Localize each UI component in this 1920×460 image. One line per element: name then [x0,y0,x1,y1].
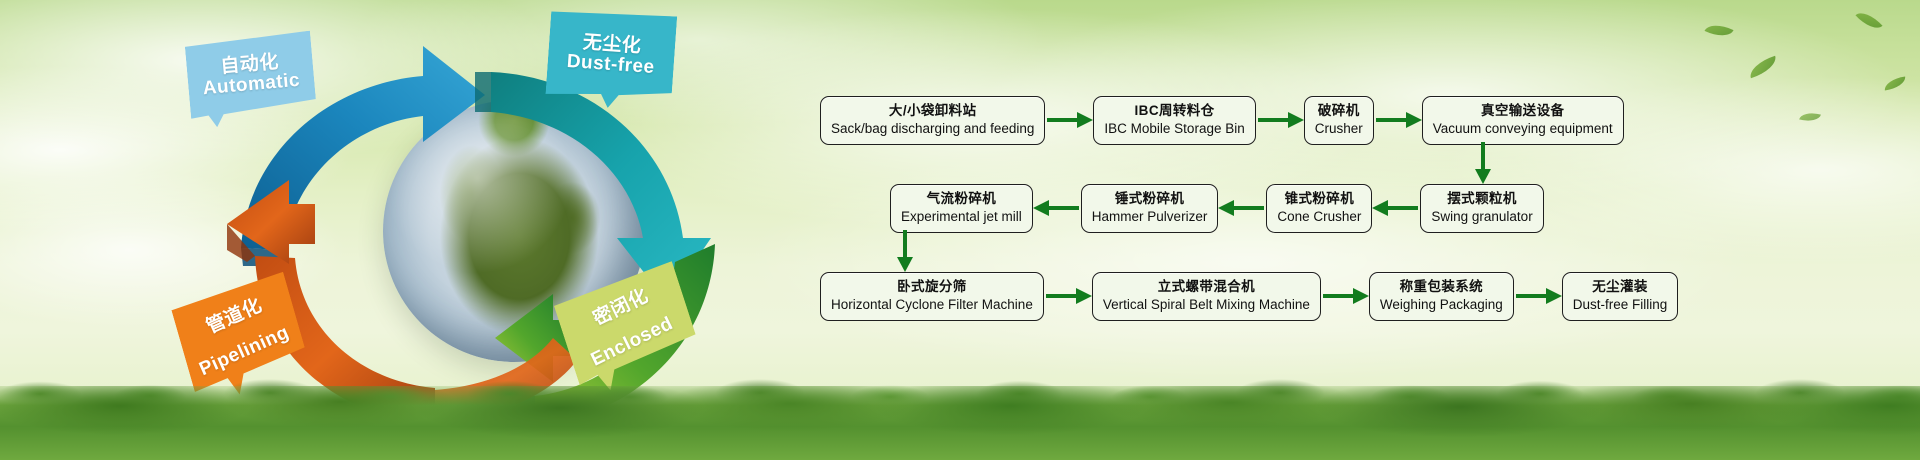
arrow-right-icon [1045,109,1093,131]
tag-label-en: Automatic [202,70,301,99]
node-label-en: Weighing Packaging [1380,296,1503,314]
cycle-tag-dust-free: 无尘化 Dust-free [545,8,677,113]
arrow-right-icon [1321,285,1369,307]
node-label-cn: 锥式粉碎机 [1277,190,1361,208]
node-label-en: Sack/bag discharging and feeding [831,120,1034,138]
flow-node-experimental-jet-mill[interactable]: 气流粉碎机 Experimental jet mill [890,184,1033,233]
arrow-left-icon [1033,197,1081,219]
flow-node-swing-granulator[interactable]: 摆式颗粒机 Swing granulator [1420,184,1543,233]
node-label-en: Vertical Spiral Belt Mixing Machine [1103,296,1310,314]
node-label-en: IBC Mobile Storage Bin [1104,120,1244,138]
flow-node-ibc-mobile-storage-bin[interactable]: IBC周转料仓 IBC Mobile Storage Bin [1093,96,1255,145]
flow-row-2: 气流粉碎机 Experimental jet mill 锤式粉碎机 Hammer… [890,184,1544,233]
flow-node-cone-crusher[interactable]: 锥式粉碎机 Cone Crusher [1266,184,1372,233]
arrow-right-icon [1256,109,1304,131]
node-label-cn: 称重包装系统 [1380,278,1503,296]
arrow-right-icon [1514,285,1562,307]
eco-cycle-graphic: 自动化 Automatic 无尘化 Dust-free 管道化 Pipelini… [155,38,815,428]
flow-node-vertical-spiral-belt-mixing-machine[interactable]: 立式螺带混合机 Vertical Spiral Belt Mixing Mach… [1092,272,1321,321]
node-label-en: Crusher [1315,120,1363,138]
node-label-cn: 真空输送设备 [1433,102,1613,120]
arrow-right-icon [1374,109,1422,131]
cycle-tag-automatic: 自动化 Automatic [184,31,317,130]
node-label-en: Horizontal Cyclone Filter Machine [831,296,1033,314]
flow-node-dust-free-filling[interactable]: 无尘灌装 Dust-free Filling [1562,272,1679,321]
arrow-left-icon [1372,197,1420,219]
node-label-cn: 锤式粉碎机 [1092,190,1208,208]
flow-row-1: 大/小袋卸料站 Sack/bag discharging and feeding… [820,96,1624,145]
flow-row-3: 卧式旋分筛 Horizontal Cyclone Filter Machine … [820,272,1678,321]
grass-foreground [0,386,1920,460]
arrow-right-icon [1044,285,1092,307]
node-label-cn: IBC周转料仓 [1104,102,1244,120]
node-label-cn: 大/小袋卸料站 [831,102,1034,120]
node-label-cn: 无尘灌装 [1573,278,1668,296]
node-label-en: Vacuum conveying equipment [1433,120,1613,138]
node-label-cn: 卧式旋分筛 [831,278,1033,296]
flow-node-vacuum-conveying-equipment[interactable]: 真空输送设备 Vacuum conveying equipment [1422,96,1624,145]
banner-canvas: 自动化 Automatic 无尘化 Dust-free 管道化 Pipelini… [0,0,1920,460]
flow-node-hammer-pulverizer[interactable]: 锤式粉碎机 Hammer Pulverizer [1081,184,1219,233]
process-flowchart: 大/小袋卸料站 Sack/bag discharging and feeding… [820,96,1910,386]
node-label-en: Swing granulator [1431,208,1532,226]
arrow-down-icon-row1-to-row2 [1472,142,1494,184]
node-label-en: Cone Crusher [1277,208,1361,226]
arrow-down-icon-row2-to-row3 [894,230,916,272]
node-label-en: Experimental jet mill [901,208,1022,226]
node-label-cn: 破碎机 [1315,102,1363,120]
node-label-cn: 气流粉碎机 [901,190,1022,208]
flow-node-sack-bag-discharging[interactable]: 大/小袋卸料站 Sack/bag discharging and feeding [820,96,1045,145]
arrow-left-icon [1218,197,1266,219]
node-label-en: Hammer Pulverizer [1092,208,1208,226]
flow-node-horizontal-cyclone-filter-machine[interactable]: 卧式旋分筛 Horizontal Cyclone Filter Machine [820,272,1044,321]
node-label-en: Dust-free Filling [1573,296,1668,314]
flow-node-crusher[interactable]: 破碎机 Crusher [1304,96,1374,145]
node-label-cn: 立式螺带混合机 [1103,278,1310,296]
flow-node-weighing-packaging[interactable]: 称重包装系统 Weighing Packaging [1369,272,1514,321]
tag-label-en: Dust-free [566,51,655,78]
node-label-cn: 摆式颗粒机 [1431,190,1532,208]
